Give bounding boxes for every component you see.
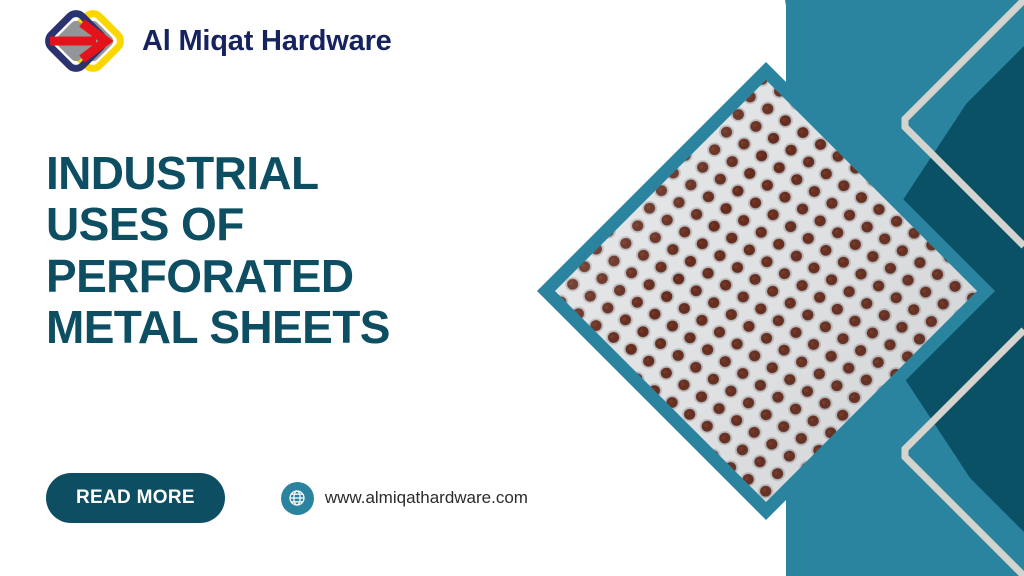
website-link[interactable]: www.almiqathardware.com — [281, 482, 528, 515]
top-right-teal-chevron-main — [786, 0, 1024, 232]
top-right-teal-chevron — [785, 0, 1024, 288]
top-chevron-line — [905, 0, 1024, 246]
bottom-right-dark-teal-block — [880, 288, 1024, 576]
top-right-dark-teal-block — [880, 0, 1024, 288]
headline-line-2: USES OF — [46, 199, 486, 250]
brand-header: Al Miqat Hardware — [44, 8, 392, 74]
bottom-right-teal-chevron-main — [786, 344, 1024, 576]
top-right-dark-teal-panel-b — [906, 170, 1024, 288]
company-logo-icon — [44, 8, 128, 74]
bottom-right-dark-teal-panel — [880, 288, 1024, 576]
top-right-teal-wedge — [786, 0, 1024, 288]
bottom-right-dark-teal-wedge — [880, 288, 1024, 420]
website-url-text: www.almiqathardware.com — [325, 488, 528, 508]
diamond-frame — [537, 62, 995, 520]
headline-line-1: INDUSTRIAL — [46, 148, 486, 199]
bottom-right-teal-chevron — [786, 288, 1024, 576]
top-right-dark-teal-panel — [880, 0, 1024, 288]
page-title: INDUSTRIAL USES OF PERFORATED METAL SHEE… — [46, 148, 486, 353]
footer-row: READ MORE www.almiqathardware.com — [46, 473, 528, 523]
read-more-button[interactable]: READ MORE — [46, 473, 225, 523]
promo-banner: Al Miqat Hardware INDUSTRIAL USES OF PER… — [0, 0, 1024, 576]
bottom-chevron-line — [905, 330, 1024, 576]
headline-line-4: METAL SHEETS — [46, 302, 486, 353]
headline-line-3: PERFORATED — [46, 251, 486, 302]
brand-name: Al Miqat Hardware — [142, 25, 392, 58]
globe-icon — [281, 482, 314, 515]
